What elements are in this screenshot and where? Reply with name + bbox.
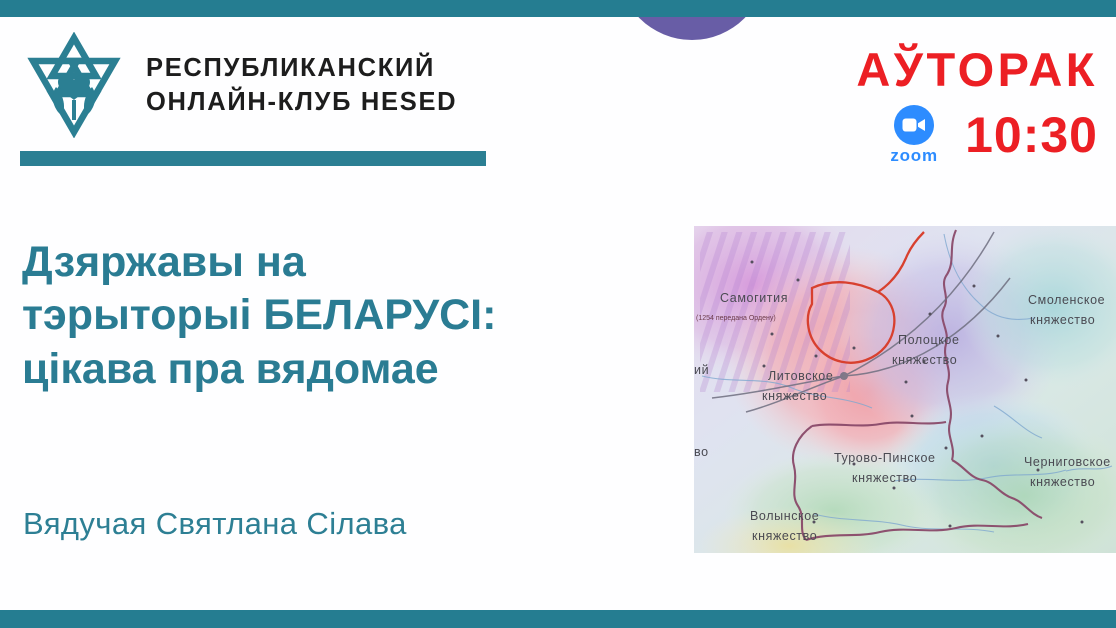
map-label-lithuania-2: княжество bbox=[762, 389, 827, 403]
logo-row: РЕСПУБЛИКАНСКИЙ ОНЛАЙН-КЛУБ HESED bbox=[20, 32, 490, 138]
map-label-smolensk-2: княжество bbox=[1030, 313, 1095, 327]
logo-underline-bar bbox=[20, 151, 486, 166]
title-line-1: Дзяржавы на bbox=[22, 236, 672, 289]
schedule-block: АЎТОРАК zoom 10:30 bbox=[798, 46, 1098, 166]
time-row: zoom 10:30 bbox=[798, 103, 1098, 166]
logo-line-1: РЕСПУБЛИКАНСКИЙ bbox=[146, 55, 457, 83]
map-label-lithuania-1: Литовское bbox=[768, 369, 833, 383]
map-label-turov-1: Турово-Пинское bbox=[834, 451, 936, 465]
zoom-video-camera-icon bbox=[894, 105, 934, 145]
map-label-edge-left: во bbox=[694, 445, 709, 459]
club-logo-block: РЕСПУБЛИКАНСКИЙ ОНЛАЙН-КЛУБ HESED bbox=[20, 32, 490, 138]
map-label-edge-left-2: ий bbox=[694, 363, 709, 377]
event-time-label: 10:30 bbox=[965, 110, 1098, 160]
presenter-label: Вядучая Святлана Сілава bbox=[23, 506, 407, 542]
map-label-smolensk-1: Смоленское bbox=[1028, 293, 1105, 307]
star-of-david-heart-hands-icon bbox=[20, 32, 128, 138]
map-label-samogitia: Самогития bbox=[720, 291, 788, 305]
map-label-chernigov-2: княжество bbox=[1030, 475, 1095, 489]
map-label-chernigov-1: Черниговское bbox=[1024, 455, 1111, 469]
logo-wordmark: РЕСПУБЛИКАНСКИЙ ОНЛАЙН-КЛУБ HESED bbox=[146, 53, 457, 116]
historical-map-image: Самогития (1254 передана Ордену) Литовск… bbox=[694, 226, 1116, 553]
map-label-volyn-2: княжество bbox=[752, 529, 817, 543]
day-of-week-label: АЎТОРАК bbox=[798, 46, 1098, 93]
map-label-samogitia-note: (1254 передана Ордену) bbox=[696, 315, 776, 322]
logo-line-2: ОНЛАЙН-КЛУБ HESED bbox=[146, 89, 457, 117]
title-line-3: цікава пра вядомае bbox=[22, 343, 672, 396]
map-label-volyn-1: Волынское bbox=[750, 509, 819, 523]
top-accent-bar bbox=[0, 0, 1116, 17]
title-line-2: тэрыторыі БЕЛАРУСІ: bbox=[22, 289, 672, 342]
event-title: Дзяржавы на тэрыторыі БЕЛАРУСІ: цікава п… bbox=[22, 236, 672, 396]
bottom-accent-bar bbox=[0, 610, 1116, 628]
zoom-logo: zoom bbox=[881, 103, 947, 166]
poster-canvas: РЕСПУБЛИКАНСКИЙ ОНЛАЙН-КЛУБ HESED АЎТОРА… bbox=[0, 0, 1116, 628]
map-label-turov-2: княжество bbox=[852, 471, 917, 485]
map-label-polotsk-1: Полоцкое bbox=[898, 333, 960, 347]
map-label-polotsk-2: княжество bbox=[892, 353, 957, 367]
zoom-wordmark: zoom bbox=[890, 146, 938, 166]
